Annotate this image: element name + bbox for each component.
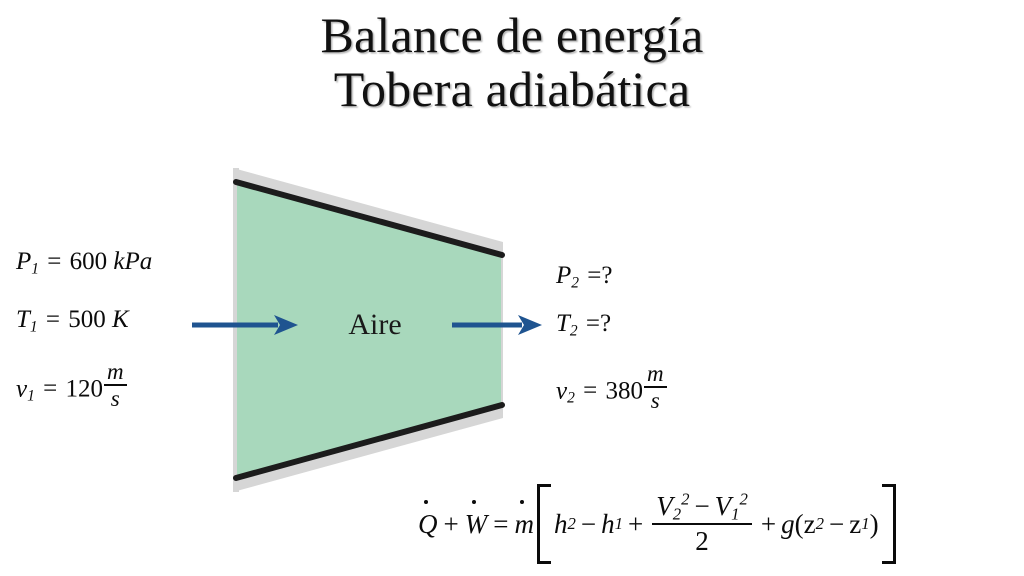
inlet-velocity-label: v1 = 120ms <box>16 360 152 414</box>
inlet-pressure-label: P1 = 600 kPa <box>16 246 152 302</box>
inlet-flow-arrow-icon <box>192 312 300 343</box>
equation-bracket-left <box>537 484 551 564</box>
outlet-velocity-equals: = <box>581 377 599 404</box>
equation-minus-3: − <box>824 509 849 540</box>
enthalpy-inlet-symbol: h <box>601 509 615 540</box>
enthalpy-outlet-symbol: h <box>554 509 568 540</box>
inlet-pressure-unit: kPa <box>113 248 152 275</box>
inlet-temperature-unit: K <box>112 306 129 333</box>
outlet-velocity-symbol: v <box>556 377 567 404</box>
work-rate-symbol: W <box>465 509 488 540</box>
inlet-velocity-unit-denominator: s <box>104 387 127 410</box>
outlet-pressure-symbol: P <box>556 262 571 289</box>
velocity-outlet-symbol: V <box>656 491 673 521</box>
equation-plus-3: + <box>756 509 781 540</box>
outlet-temperature-label: T2 =? <box>556 310 667 358</box>
equation-paren-close: ) <box>870 509 879 540</box>
title-line-1: Balance de energía <box>0 8 1024 62</box>
equation-minus-1: − <box>576 509 601 540</box>
title-line-2: Tobera adiabática <box>0 62 1024 116</box>
inlet-velocity-index: 1 <box>27 388 35 405</box>
outlet-velocity-value: 380 <box>605 377 643 404</box>
inlet-velocity-unit-numerator: m <box>104 360 127 383</box>
equation-plus-2: + <box>623 509 648 540</box>
inlet-velocity-unit-fraction: ms <box>104 360 127 411</box>
inlet-state-labels: P1 = 600 kPa T1 = 500 K v1 = 120ms <box>16 246 152 414</box>
height-outlet-symbol: z <box>804 509 816 540</box>
inlet-pressure-symbol: P <box>16 248 31 275</box>
outlet-velocity-unit-denominator: s <box>644 389 667 412</box>
equation-paren-open: ( <box>795 509 804 540</box>
outlet-pressure-index: 2 <box>571 274 579 291</box>
inlet-pressure-value: 600 <box>70 248 108 275</box>
outlet-pressure-label: P2 =? <box>556 262 667 310</box>
outlet-flow-arrow-icon <box>452 312 544 343</box>
outlet-pressure-equals: =? <box>585 262 614 289</box>
kinetic-energy-denominator: 2 <box>652 527 752 555</box>
inlet-temperature-label: T1 = 500 K <box>16 302 152 360</box>
inlet-pressure-equals: = <box>45 248 63 275</box>
inlet-pressure-index: 1 <box>31 260 39 277</box>
page-title: Balance de energía Tobera adiabática <box>0 8 1024 116</box>
inlet-velocity-symbol: v <box>16 375 27 402</box>
kinetic-energy-numerator: V22−V12 <box>652 492 752 520</box>
outlet-velocity-label: v2 = 380ms <box>556 358 667 410</box>
velocity-inlet-symbol: V <box>715 491 732 521</box>
outlet-state-labels: P2 =? T2 =? v2 = 380ms <box>556 262 667 410</box>
outlet-temperature-index: 2 <box>570 322 578 339</box>
heat-rate-symbol: Q <box>418 509 438 540</box>
outlet-velocity-unit-fraction: ms <box>644 362 667 413</box>
inlet-temperature-symbol: T <box>16 306 30 333</box>
kinetic-energy-fraction: V22−V12 2 <box>652 492 752 555</box>
inlet-temperature-equals: = <box>44 306 62 333</box>
equation-bracket-right <box>882 484 896 564</box>
energy-balance-equation: Q + W = m h2 − h1 + V22−V12 2 + g ( z2 −… <box>418 484 899 564</box>
inlet-temperature-value: 500 <box>68 306 106 333</box>
inlet-temperature-index: 1 <box>30 318 38 335</box>
velocity-outlet-index: 2 <box>673 505 681 524</box>
equation-plus-1: + <box>438 509 465 540</box>
outlet-temperature-symbol: T <box>556 310 570 337</box>
velocity-inlet-power: 2 <box>740 490 748 509</box>
gravity-symbol: g <box>781 509 795 540</box>
equation-equals: = <box>487 509 514 540</box>
mass-flow-rate-symbol: m <box>514 509 534 540</box>
velocity-inlet-index: 1 <box>731 505 739 524</box>
height-inlet-symbol: z <box>849 509 861 540</box>
outlet-temperature-equals: =? <box>584 310 613 337</box>
inlet-velocity-equals: = <box>41 375 59 402</box>
inlet-velocity-value: 120 <box>65 375 103 402</box>
outlet-velocity-index: 2 <box>567 390 575 407</box>
outlet-velocity-unit-numerator: m <box>644 362 667 385</box>
equation-minus-2: − <box>689 491 714 521</box>
